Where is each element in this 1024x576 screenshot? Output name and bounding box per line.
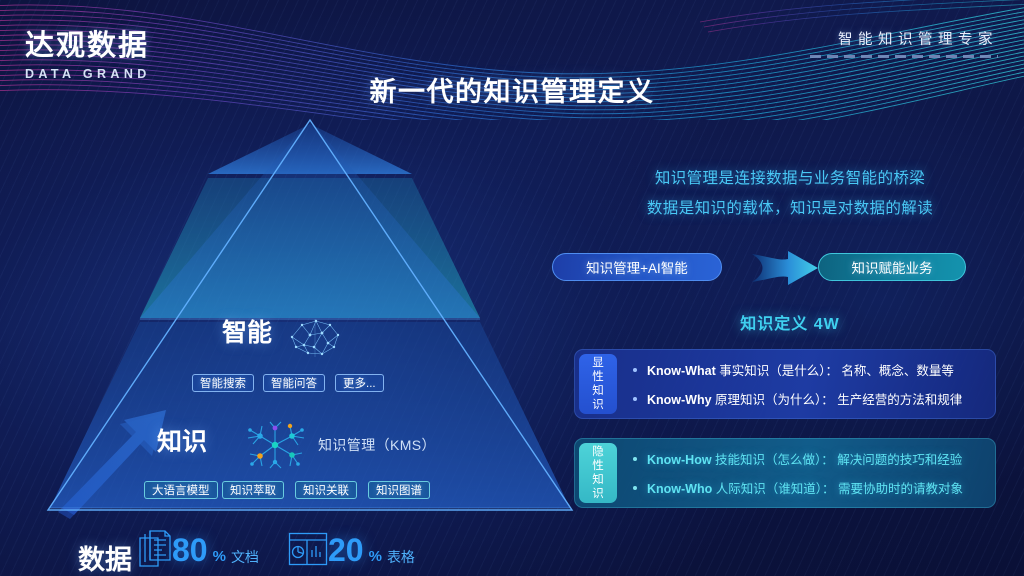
documents-icon <box>138 530 172 568</box>
tier-label-intelligence: 智能 <box>222 313 272 349</box>
stat-tables-value: 20 <box>328 534 364 566</box>
tacit-knowledge-rows: Know-How 技能知识（怎么做）： 解决问题的技巧和经验 Know-Who … <box>621 439 995 507</box>
chip-intelligent-qa[interactable]: 智能问答 <box>263 374 325 392</box>
stat-documents: 80 % 文档 <box>172 534 259 566</box>
tab-explicit-knowledge: 显 性 知 识 <box>579 354 617 414</box>
bullet-icon <box>633 486 637 490</box>
list-item: Know-How 技能知识（怎么做）： 解决问题的技巧和经验 <box>633 449 987 468</box>
chip-llm[interactable]: 大语言模型 <box>144 481 218 499</box>
chip-knowledge-extract[interactable]: 知识萃取 <box>222 481 284 499</box>
quote-block: 知识管理是连接数据与业务智能的桥梁 数据是知识的载体，知识是对数据的解读 <box>580 164 1000 224</box>
pill-knowledge-empowers-business[interactable]: 知识赋能业务 <box>818 253 966 281</box>
tab-explicit-char-0: 显 <box>592 356 604 370</box>
bullet-icon <box>633 457 637 461</box>
knowledge-pyramid: 智能 知识 数据 知识管理（KMS） 智能搜索 智能问答 更多... 大语言模型… <box>40 110 580 520</box>
tab-tacit-char-0: 隐 <box>592 445 604 459</box>
know-why-text: 原理知识（为什么）： 生产经营的方法和规律 <box>712 393 963 407</box>
quote-line-1: 知识管理是连接数据与业务智能的桥梁 <box>580 164 1000 194</box>
page-title: 新一代的知识管理定义 <box>0 70 1024 109</box>
bullet-icon <box>633 368 637 372</box>
chip-intelligent-search[interactable]: 智能搜索 <box>192 374 254 392</box>
tagline-block: 智能知识管理专家 <box>810 28 998 58</box>
card-explicit-knowledge: 显 性 知 识 Know-What 事实知识（是什么）： 名称、概念、数量等 K… <box>574 349 996 419</box>
stat-documents-unit: 文档 <box>231 550 259 566</box>
know-how-text: 技能知识（怎么做）： 解决问题的技巧和经验 <box>712 453 963 467</box>
brand-name-cn: 达观数据 <box>25 22 151 64</box>
list-item: Know-Why 原理知识（为什么）： 生产经营的方法和规律 <box>633 389 987 408</box>
right-arrow-icon <box>750 249 820 287</box>
list-item: Know-What 事实知识（是什么）： 名称、概念、数量等 <box>633 360 987 379</box>
tab-tacit-char-2: 知 <box>592 473 604 487</box>
kms-caption: 知识管理（KMS） <box>318 435 436 455</box>
chip-more[interactable]: 更多... <box>335 374 384 392</box>
tab-explicit-char-1: 性 <box>592 370 604 384</box>
tab-tacit-char-3: 识 <box>592 487 604 501</box>
slide-root: 达观数据 DATA GRAND 智能知识管理专家 新一代的知识管理定义 <box>0 0 1024 576</box>
table-chart-icon <box>288 532 328 566</box>
tagline-dashed-rule <box>810 55 998 58</box>
brain-network-icon <box>284 313 346 359</box>
list-item: Know-Who 人际知识（谁知道）： 需要协助时的请教对象 <box>633 478 987 497</box>
stat-tables-unit: 表格 <box>387 550 415 566</box>
know-why-term: Know-Why <box>647 393 712 407</box>
know-who-text: 人际知识（谁知道）： 需要协助时的请教对象 <box>712 482 963 496</box>
knowledge-graph-icon <box>240 420 310 470</box>
tier-label-data: 数据 <box>78 538 132 576</box>
stat-documents-percent: % <box>213 549 226 566</box>
tab-explicit-char-3: 识 <box>592 398 604 412</box>
know-what-term: Know-What <box>647 364 716 378</box>
tab-tacit-char-1: 性 <box>592 459 604 473</box>
fourw-heading: 知识定义 4W <box>580 310 1000 334</box>
tier-label-knowledge: 知识 <box>157 422 207 458</box>
bullet-icon <box>633 397 637 401</box>
tab-tacit-knowledge: 隐 性 知 识 <box>579 443 617 503</box>
know-how-term: Know-How <box>647 453 712 467</box>
chip-knowledge-linking[interactable]: 知识关联 <box>295 481 357 499</box>
card-tacit-knowledge: 隐 性 知 识 Know-How 技能知识（怎么做）： 解决问题的技巧和经验 K… <box>574 438 996 508</box>
know-who-term: Know-Who <box>647 482 712 496</box>
tab-explicit-char-2: 知 <box>592 384 604 398</box>
quote-line-2: 数据是知识的载体，知识是对数据的解读 <box>580 194 1000 224</box>
chip-knowledge-graph[interactable]: 知识图谱 <box>368 481 430 499</box>
stat-tables-percent: % <box>369 549 382 566</box>
explicit-knowledge-rows: Know-What 事实知识（是什么）： 名称、概念、数量等 Know-Why … <box>621 350 995 418</box>
stat-documents-value: 80 <box>172 534 208 566</box>
know-what-text: 事实知识（是什么）： 名称、概念、数量等 <box>716 364 954 378</box>
pill-km-plus-ai[interactable]: 知识管理+AI智能 <box>552 253 722 281</box>
tagline-text: 智能知识管理专家 <box>810 28 998 49</box>
stat-tables: 20 % 表格 <box>328 534 415 566</box>
